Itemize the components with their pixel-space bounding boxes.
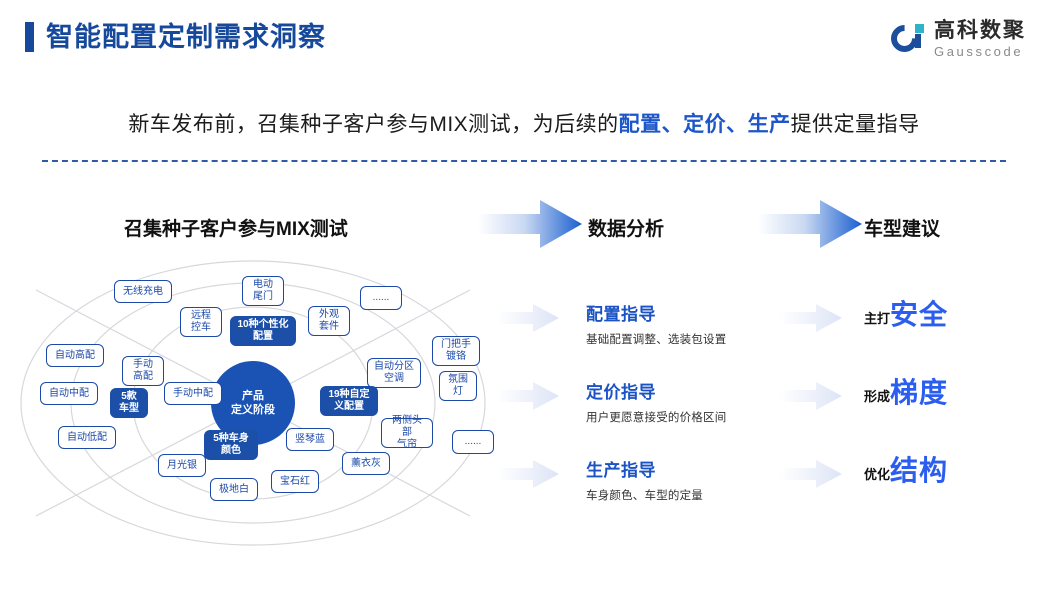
diagram-tag: 手动 高配 — [122, 356, 164, 386]
diagram-tag: 月光银 — [158, 454, 206, 477]
analysis-row-1-desc: 基础配置调整、选装包设置 — [586, 331, 726, 347]
flow-arrow-2-icon — [758, 198, 862, 250]
analysis-row-1-title: 配置指导 — [586, 300, 726, 325]
section-divider — [42, 160, 1006, 162]
brand-logo: 高科数聚 Gausscode — [891, 20, 1026, 58]
suggestion-row-3-keyword: 结构 — [890, 456, 948, 486]
row-arrow-left-2-icon — [497, 381, 559, 411]
diagram-tag: 无线充电 — [114, 280, 172, 303]
row-arrow-right-2-icon — [780, 381, 842, 411]
row-arrow-left-3-icon — [497, 459, 559, 489]
subtitle-highlight: 配置、定价、生产 — [619, 113, 791, 136]
diagram-tag: 手动中配 — [164, 382, 222, 405]
analysis-row-1: 配置指导 基础配置调整、选装包设置 — [586, 300, 726, 347]
diagram-tag: ...... — [360, 286, 402, 310]
diagram-tag: 19种自定 义配置 — [320, 386, 378, 416]
analysis-row-3-title: 生产指导 — [586, 456, 703, 481]
diagram-tag: 宝石红 — [271, 470, 319, 493]
analysis-row-2: 定价指导 用户更愿意接受的价格区间 — [586, 378, 726, 425]
slide-root: 智能配置定制需求洞察 高科数聚 Gausscode 新车发布前，召集种子客户参与… — [0, 0, 1048, 589]
subtitle-part1: 新车发布前，召集种子客户参与MIX测试，为后续的 — [128, 113, 618, 136]
diagram-tag: ...... — [452, 430, 494, 454]
suggestion-row-3-prefix: 优化 — [864, 464, 890, 486]
subtitle-part2: 提供定量指导 — [791, 113, 920, 136]
suggestion-row-1: 主打 安全 — [864, 300, 948, 330]
gausscode-logo-icon — [891, 22, 925, 56]
subtitle: 新车发布前，召集种子客户参与MIX测试，为后续的配置、定价、生产提供定量指导 — [0, 108, 1048, 138]
diagram-tag: 氛围 灯 — [439, 371, 477, 401]
suggestion-row-2: 形成 梯度 — [864, 378, 948, 408]
suggestion-row-3: 优化 结构 — [864, 456, 948, 486]
diagram-tag: 5种车身 颜色 — [204, 430, 258, 460]
diagram-tag: 外观 套件 — [308, 306, 350, 336]
diagram-tag: 远程 控车 — [180, 307, 222, 337]
suggestion-row-1-prefix: 主打 — [864, 308, 890, 330]
suggestion-row-2-prefix: 形成 — [864, 386, 890, 408]
column-heading-left: 召集种子客户参与MIX测试 — [124, 214, 348, 241]
page-title: 智能配置定制需求洞察 — [46, 18, 326, 56]
diagram-tag: 门把手 镀铬 — [432, 336, 480, 366]
product-definition-diagram: 产品 定义阶段 无线充电电动 尾门......远程 控车10种个性化 配置外观 … — [18, 258, 488, 548]
suggestion-row-2-keyword: 梯度 — [890, 378, 948, 408]
row-arrow-right-3-icon — [780, 459, 842, 489]
flow-arrow-1-icon — [478, 198, 582, 250]
analysis-row-3: 生产指导 车身颜色、车型的定量 — [586, 456, 703, 503]
column-heading-right: 车型建议 — [864, 214, 940, 241]
diagram-tag: 两侧头部 气帘 — [381, 418, 433, 448]
row-arrow-right-1-icon — [780, 303, 842, 333]
diagram-tag: 自动分区 空调 — [367, 358, 421, 388]
diagram-tag: 自动低配 — [58, 426, 116, 449]
analysis-row-3-desc: 车身颜色、车型的定量 — [586, 487, 703, 503]
title-accent-bar — [25, 22, 34, 52]
logo-name-en: Gausscode — [934, 45, 1026, 58]
diagram-tag: 竖琴蓝 — [286, 428, 334, 451]
diagram-tag: 10种个性化 配置 — [230, 316, 296, 346]
diagram-tag: 极地白 — [210, 478, 258, 501]
diagram-tag: 自动中配 — [40, 382, 98, 405]
diagram-tag: 自动高配 — [46, 344, 104, 367]
analysis-row-2-desc: 用户更愿意接受的价格区间 — [586, 409, 726, 425]
diagram-tag: 电动 尾门 — [242, 276, 284, 306]
diagram-tag: 5款 车型 — [110, 388, 148, 418]
row-arrow-left-1-icon — [497, 303, 559, 333]
column-heading-mid: 数据分析 — [588, 214, 664, 241]
slide-header: 智能配置定制需求洞察 高科数聚 Gausscode — [0, 0, 1048, 78]
suggestion-row-1-keyword: 安全 — [890, 300, 948, 330]
diagram-tag: 薰衣灰 — [342, 452, 390, 475]
analysis-row-2-title: 定价指导 — [586, 378, 726, 403]
logo-name-cn: 高科数聚 — [934, 20, 1026, 41]
